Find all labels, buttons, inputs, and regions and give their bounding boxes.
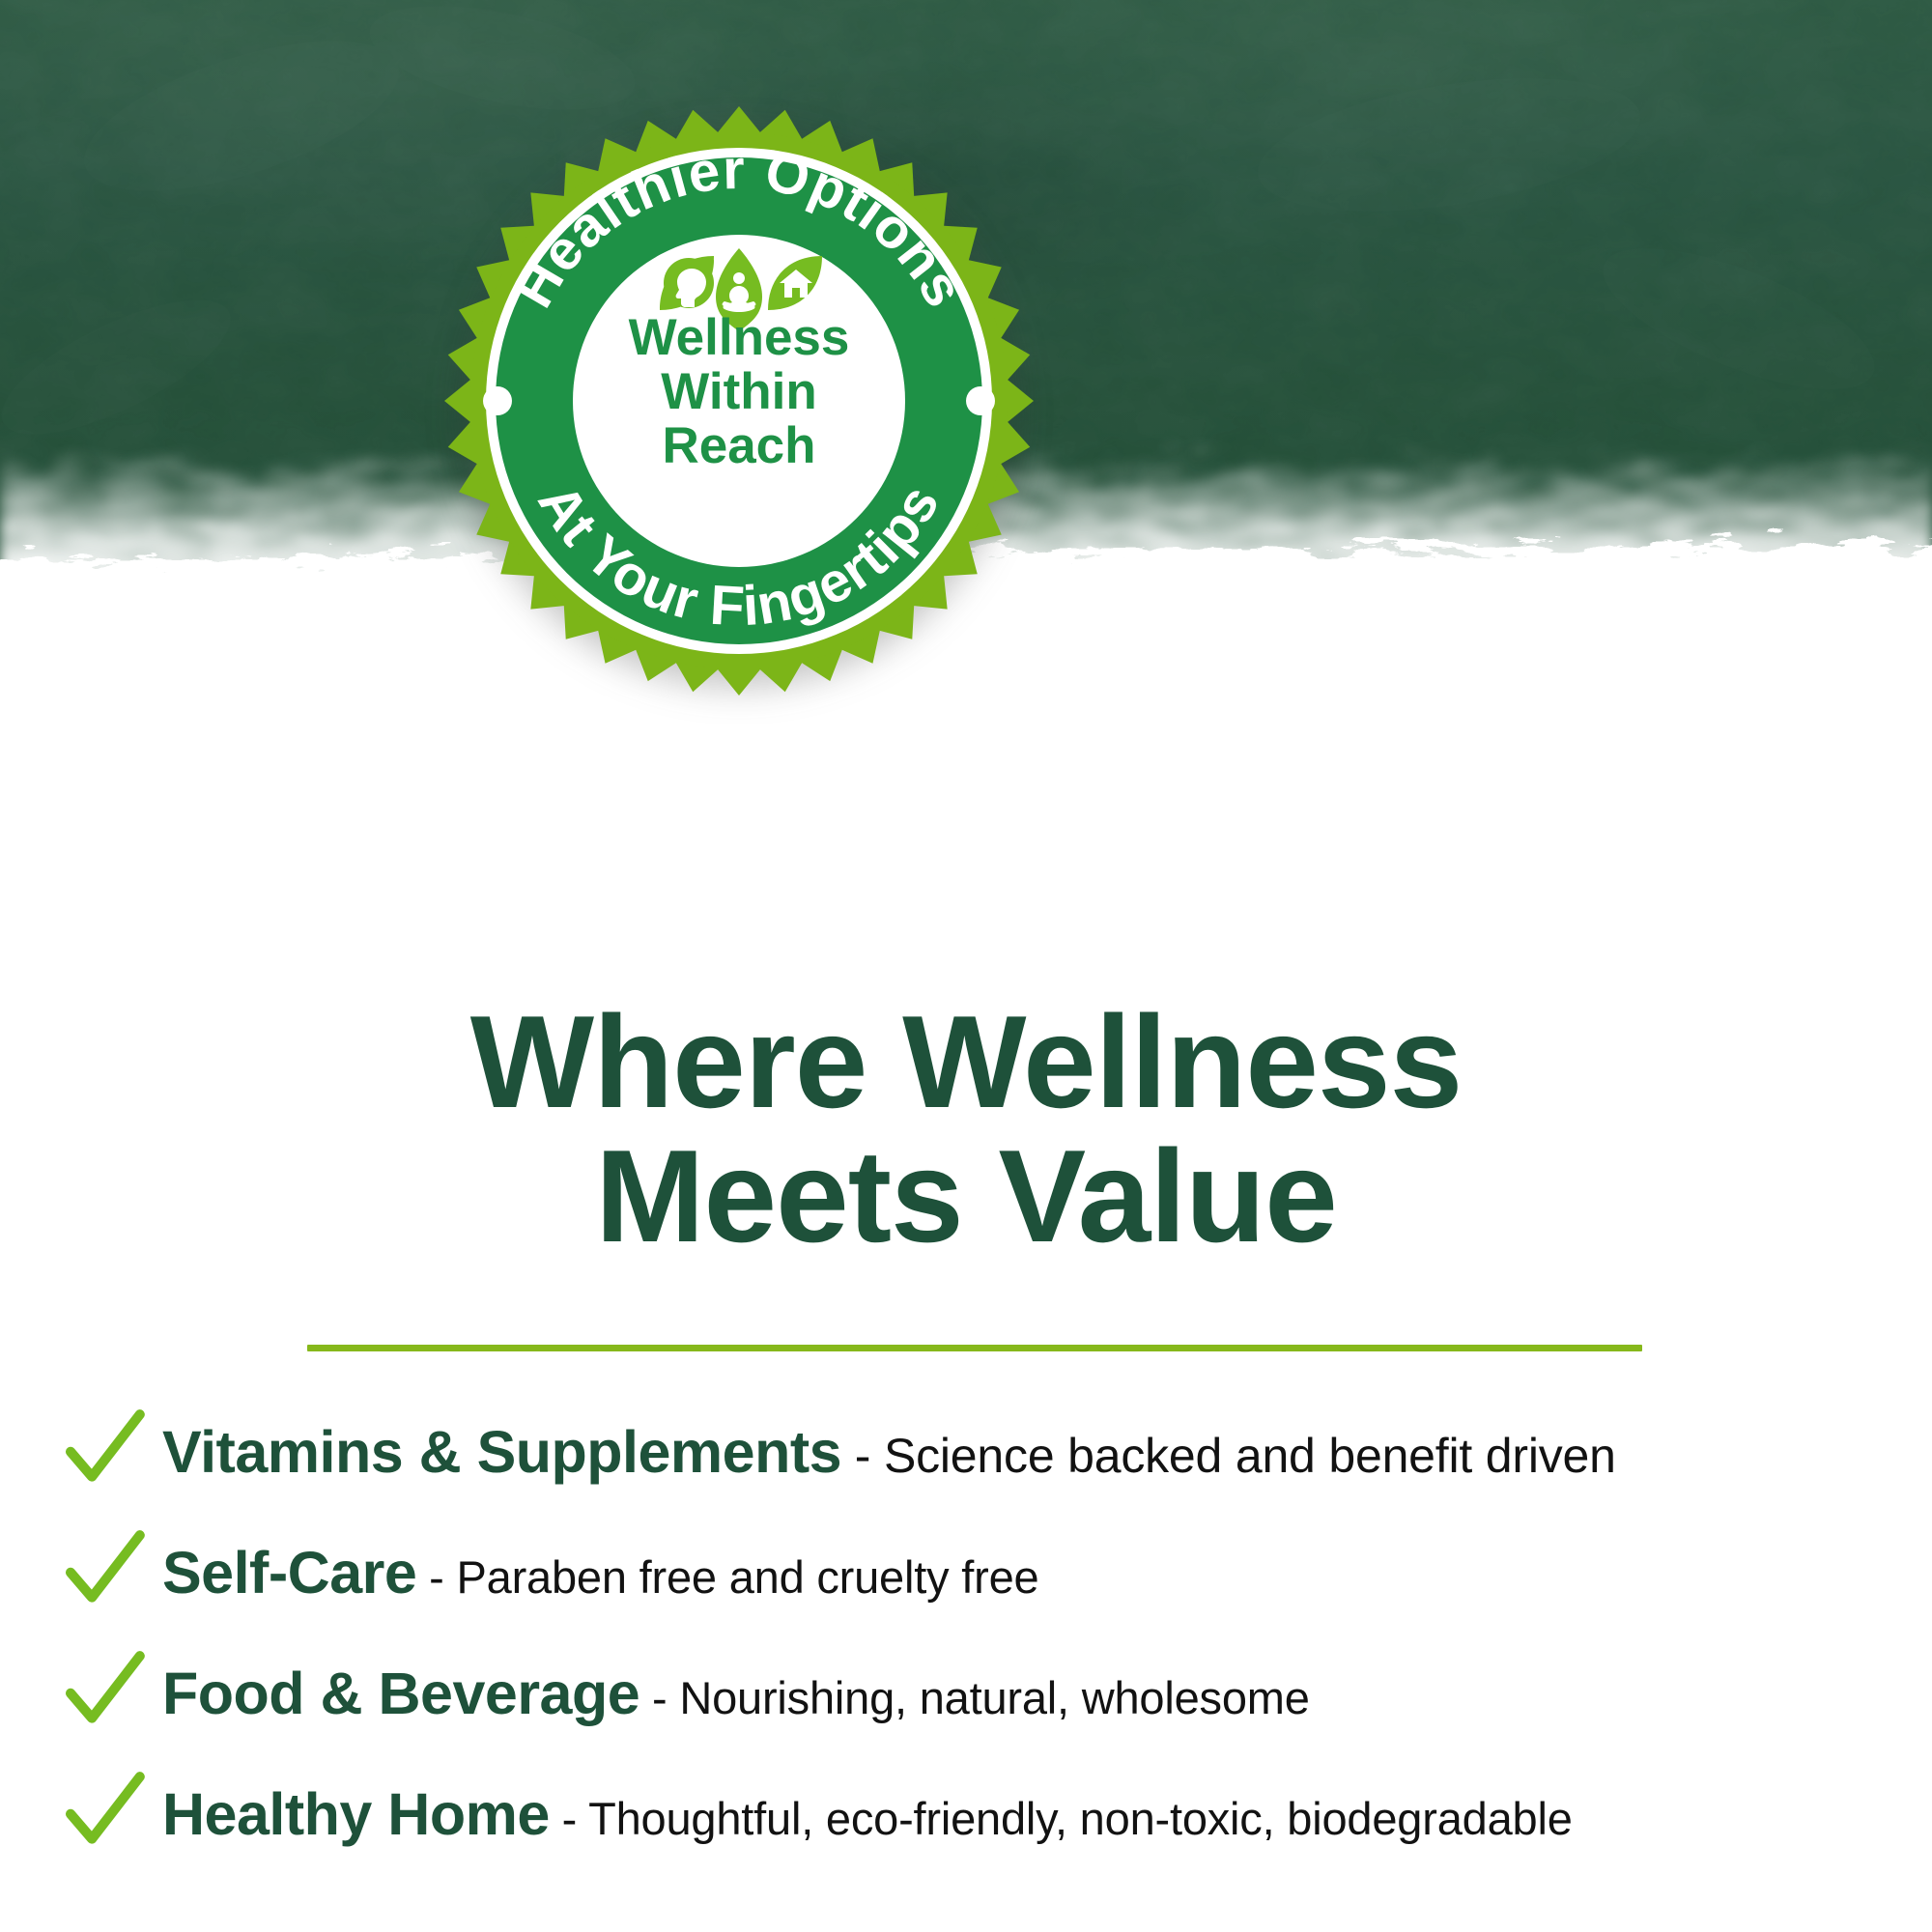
checkmark-icon [60, 1647, 149, 1736]
list-item-term: Vitamins & Supplements [162, 1419, 841, 1485]
title-divider [307, 1345, 1642, 1351]
list-item-desc: - Science backed and benefit driven [841, 1429, 1616, 1483]
page-title-line-1: Where Wellness [0, 995, 1932, 1129]
checkmark-icon [60, 1406, 149, 1494]
list-item: Food & Beverage - Nourishing, natural, w… [0, 1633, 1932, 1753]
list-item: Vitamins & Supplements - Science backed … [0, 1391, 1932, 1512]
badge-center-line-3: Reach [662, 417, 815, 474]
list-item-term: Food & Beverage [162, 1661, 639, 1726]
badge-dot-right [966, 386, 995, 415]
list-item-term: Self-Care [162, 1540, 416, 1605]
list-item-desc: - Thoughtful, eco-friendly, non-toxic, b… [550, 1793, 1573, 1844]
page-title-line-2: Meets Value [0, 1129, 1932, 1264]
list-item-term: Healthy Home [162, 1781, 550, 1847]
list-item-desc: - Nourishing, natural, wholesome [639, 1672, 1310, 1723]
badge-graphic: Healthier Options At Your Fingertips [440, 101, 1038, 700]
list-item: Healthy Home - Thoughtful, eco-friendly,… [0, 1753, 1932, 1874]
badge-center-line-2: Within [661, 363, 816, 420]
feature-list: Vitamins & Supplements - Science backed … [0, 1391, 1932, 1874]
wellness-badge: Healthier Options At Your Fingertips [440, 101, 1038, 700]
list-item: Self-Care - Paraben free and cruelty fre… [0, 1512, 1932, 1633]
checkmark-icon [60, 1768, 149, 1857]
badge-center-line-1: Wellness [629, 309, 850, 366]
list-item-desc: - Paraben free and cruelty free [416, 1551, 1038, 1603]
page-title: Where Wellness Meets Value [0, 995, 1932, 1263]
checkmark-icon [60, 1526, 149, 1615]
badge-dot-left [483, 386, 512, 415]
promo-graphic: Healthier Options At Your Fingertips [0, 0, 1932, 1932]
